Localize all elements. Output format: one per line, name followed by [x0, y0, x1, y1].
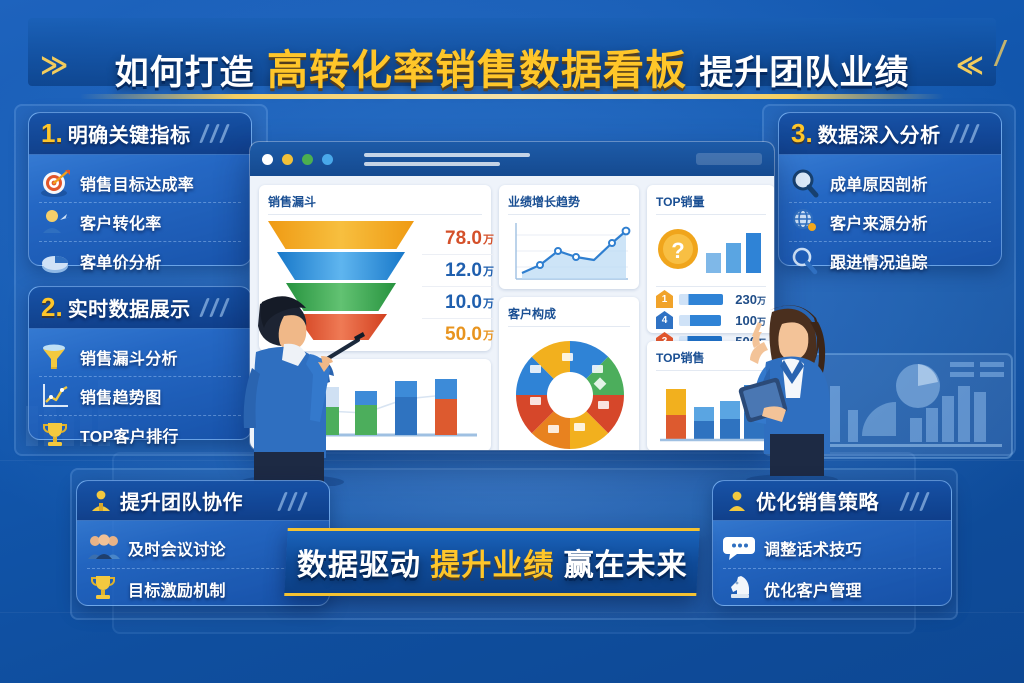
- card-sales-strategy[interactable]: 优化销售策略 调整话术技巧 优化客户管理: [712, 480, 952, 606]
- card-title: 提升团队协作: [120, 486, 243, 515]
- panel-sales-funnel[interactable]: 销售漏斗 78.0万: [259, 185, 491, 351]
- people-group-icon: [87, 533, 121, 563]
- panel-title: TOP销量: [656, 193, 766, 210]
- funnel-unit: 万: [483, 231, 494, 247]
- chess-knight-icon: [723, 574, 757, 604]
- funnel-bands: [268, 221, 414, 343]
- banner-part2: 赢在未来: [563, 549, 687, 582]
- rank-number: 3: [656, 332, 673, 350]
- card-number: 2.: [41, 292, 63, 323]
- card-body: 销售目标达成率 客户转化率 客单价分析: [29, 157, 251, 288]
- rank-row[interactable]: 4 100万: [656, 311, 766, 329]
- list-item-label: 及时会议讨论: [128, 536, 226, 560]
- titlebar-stub: [364, 153, 530, 157]
- rank-number: 1: [656, 290, 673, 308]
- funnel-band-3: [286, 283, 396, 311]
- panel-title: 业绩增长趋势: [508, 193, 630, 210]
- funnel-chart: 78.0万 12.0万 10.0万 50.0万: [268, 221, 482, 350]
- globe-icon: [789, 207, 823, 237]
- list-item[interactable]: 客单价分析: [39, 242, 241, 280]
- panel-divider: [508, 326, 630, 327]
- card-header: 提升团队协作: [77, 481, 329, 521]
- progress-bar: [679, 315, 721, 326]
- funnel-value: 10.0: [445, 292, 482, 314]
- title-underline: [80, 94, 944, 99]
- window-dot-4[interactable]: [322, 154, 333, 165]
- user-conversion-icon: [39, 207, 73, 237]
- top-volume-bars: ?: [656, 221, 768, 275]
- team-icon: [89, 489, 115, 513]
- trend-area-chart: [508, 221, 632, 285]
- card-key-metrics[interactable]: 1. 明确关键指标 销售目标达成率 客户转化率 客单价分析: [28, 112, 252, 266]
- rank-badge-icon: 1: [656, 290, 673, 308]
- panel-title: 销售漏斗: [268, 193, 482, 210]
- panel-customer-composition[interactable]: 客户构成: [499, 297, 639, 450]
- list-item[interactable]: 客户转化率: [39, 203, 241, 242]
- banner-part1: 数据驱动: [297, 549, 421, 582]
- decor-slashes: [281, 492, 315, 512]
- dashboard-body: 销售漏斗 78.0万: [250, 176, 774, 450]
- list-item[interactable]: 及时会议讨论: [87, 528, 319, 569]
- window-titlebar: [250, 142, 774, 176]
- card-realtime-display[interactable]: 2. 实时数据展示 销售漏斗分析 销售趋势图 TOP客户排行: [28, 286, 252, 440]
- list-item-label: TOP客户排行: [80, 423, 179, 447]
- card-deep-analysis[interactable]: 3. 数据深入分析 成单原因剖析 客户来源分析 跟进情况追踪: [778, 112, 1002, 266]
- panel-growth-trend[interactable]: 业绩增长趋势: [499, 185, 639, 289]
- decor-slashes: [903, 492, 937, 512]
- donut-chart: [508, 333, 632, 450]
- funnel-value: 12.0: [445, 260, 482, 282]
- funnel-unit: 万: [483, 295, 494, 311]
- funnel-band-4: [295, 314, 387, 340]
- trophy-icon: [39, 420, 73, 450]
- titlebar-stub: [364, 162, 500, 166]
- funnel-icon: [39, 342, 73, 372]
- panel-sales-distribution[interactable]: [259, 359, 491, 450]
- card-title: 数据深入分析: [818, 119, 941, 148]
- title-accent: 高转化率销售数据看板: [267, 47, 687, 93]
- list-item-label: 成单原因剖析: [830, 171, 928, 195]
- pie-analysis-icon: [39, 246, 73, 276]
- list-item[interactable]: 优化客户管理: [723, 569, 941, 609]
- card-title: 实时数据展示: [68, 293, 191, 322]
- magnifier-icon: [789, 168, 823, 198]
- list-item[interactable]: 销售趋势图: [39, 377, 241, 416]
- window-dot-2[interactable]: [282, 154, 293, 165]
- card-header: 优化销售策略: [713, 481, 951, 521]
- card-body: 成单原因剖析 客户来源分析 跟进情况追踪: [779, 157, 1001, 288]
- target-icon: [39, 168, 73, 198]
- speech-bubble-icon: [723, 533, 757, 563]
- panel-top-sales[interactable]: TOP销售: [647, 341, 774, 450]
- panel-divider: [656, 286, 766, 287]
- list-item-label: 销售目标达成率: [80, 171, 194, 195]
- list-item-label: 目标激励机制: [128, 577, 226, 601]
- decor-slashes: [203, 298, 237, 318]
- trophy-icon: [87, 574, 121, 604]
- panel-divider: [656, 370, 766, 371]
- list-item[interactable]: TOP客户排行: [39, 416, 241, 454]
- panel-divider: [656, 214, 766, 215]
- list-item-label: 销售漏斗分析: [80, 345, 178, 369]
- rank-badge-icon: 3: [656, 332, 673, 350]
- rank-value: 100万: [735, 313, 766, 328]
- card-body: 调整话术技巧 优化客户管理: [713, 521, 951, 617]
- funnel-values: 78.0万 12.0万 10.0万 50.0万: [422, 221, 494, 350]
- banner-text: 数据驱动 提升业绩 赢在未来: [297, 540, 688, 584]
- card-title: 明确关键指标: [68, 119, 191, 148]
- funnel-unit: 万: [483, 263, 494, 279]
- rank-value: 230万: [735, 292, 766, 307]
- funnel-band-2: [277, 252, 405, 280]
- title-part1: 如何打造: [115, 54, 255, 92]
- decor-slashes: [953, 124, 987, 144]
- list-item-label: 客户来源分析: [830, 210, 928, 234]
- list-item[interactable]: 调整话术技巧: [723, 528, 941, 569]
- infographic-root: ≫ ≪ 如何打造 高转化率销售数据看板 提升团队业绩 1. 明确关键指标 销售目…: [0, 0, 1024, 683]
- rank-number: 4: [656, 311, 673, 329]
- card-header: 2. 实时数据展示: [29, 287, 251, 329]
- svg-text:?: ?: [671, 238, 684, 263]
- list-item-label: 销售趋势图: [80, 384, 162, 408]
- panel-title: TOP销售: [656, 349, 766, 366]
- title-part2: 提升团队业绩: [699, 54, 909, 92]
- list-item[interactable]: 成单原因剖析: [789, 164, 991, 203]
- rank-badge-icon: 4: [656, 311, 673, 329]
- funnel-value-row: 78.0万: [422, 223, 494, 255]
- list-item-label: 优化客户管理: [764, 577, 862, 601]
- page-title: 如何打造 高转化率销售数据看板 提升团队业绩: [0, 36, 1024, 96]
- panel-title: 客户构成: [508, 305, 630, 322]
- list-item-label: 客单价分析: [80, 249, 162, 273]
- list-item-label: 客户转化率: [80, 210, 162, 234]
- header: ≫ ≪ 如何打造 高转化率销售数据看板 提升团队业绩: [0, 14, 1024, 92]
- dashboard-col-right: TOP销量 ? 1: [647, 185, 774, 441]
- panel-divider: [268, 214, 482, 215]
- dashboard-window[interactable]: 销售漏斗 78.0万: [250, 142, 774, 450]
- dashboard-col-left: 销售漏斗 78.0万: [259, 185, 491, 441]
- card-header: 1. 明确关键指标: [29, 113, 251, 155]
- line-chart-icon: [39, 381, 73, 411]
- list-item[interactable]: 销售漏斗分析: [39, 338, 241, 377]
- card-body: 销售漏斗分析 销售趋势图 TOP客户排行: [29, 331, 251, 462]
- panel-top-volume[interactable]: TOP销量 ? 1: [647, 185, 774, 333]
- banner-accent: 提升业绩: [430, 549, 554, 582]
- decor-slashes: [203, 124, 237, 144]
- funnel-value: 50.0: [445, 324, 482, 346]
- progress-bar: [679, 294, 723, 305]
- funnel-unit: 万: [483, 327, 494, 343]
- window-dot-3[interactable]: [302, 154, 313, 165]
- top-sales-bars: [656, 377, 768, 447]
- card-number: 1.: [41, 118, 63, 149]
- funnel-value-row: 12.0万: [422, 255, 494, 287]
- track-icon: [789, 246, 823, 276]
- strategy-icon: [725, 489, 751, 513]
- bottom-banner: 数据驱动 提升业绩 赢在未来: [284, 528, 700, 596]
- panel-divider: [508, 214, 630, 215]
- rank-row[interactable]: 1 230万: [656, 290, 766, 308]
- card-title: 优化销售策略: [756, 486, 879, 515]
- list-item-label: 调整话术技巧: [764, 536, 862, 560]
- list-item-label: 跟进情况追踪: [830, 249, 928, 273]
- dashboard-col-middle: 业绩增长趋势: [499, 185, 639, 441]
- funnel-value-row: 50.0万: [422, 319, 494, 350]
- list-item[interactable]: 客户来源分析: [789, 203, 991, 242]
- card-header: 3. 数据深入分析: [779, 113, 1001, 155]
- funnel-value-row: 10.0万: [422, 287, 494, 319]
- funnel-band-1: [268, 221, 414, 249]
- funnel-value: 78.0: [445, 228, 482, 250]
- titlebar-block: [696, 153, 762, 165]
- window-dot-1[interactable]: [262, 154, 273, 165]
- bg-decor-chart-right: [800, 352, 1014, 464]
- list-item[interactable]: 销售目标达成率: [39, 164, 241, 203]
- card-number: 3.: [791, 118, 813, 149]
- stacked-bar-chart: [265, 365, 483, 445]
- list-item[interactable]: 跟进情况追踪: [789, 242, 991, 280]
